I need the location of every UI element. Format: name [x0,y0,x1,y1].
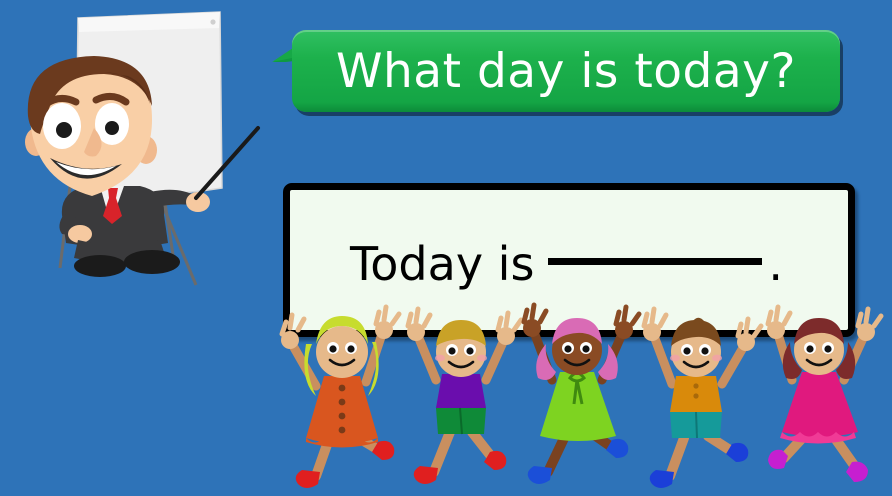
child-girl-green [512,300,642,496]
slide-canvas: What day is today? Today is . [0,0,892,496]
child-boy-orange [634,300,764,496]
shoes [414,451,507,484]
answer-prefix: Today is [350,237,534,291]
legs [670,436,736,476]
shoes [768,450,868,482]
shorts-split [696,412,697,438]
head [783,318,855,379]
shoes [528,439,629,484]
shoes [650,443,749,488]
teacher-character [0,0,270,300]
head [670,318,722,377]
child-girl-orange [278,300,408,496]
children-row [0,300,892,496]
legs [434,432,494,472]
shirt [436,374,486,408]
shoes [296,441,395,488]
head [435,320,487,377]
child-boy-purple [400,300,524,496]
answer-blank[interactable] [548,258,762,265]
head [536,318,618,380]
answer-sentence: Today is . [350,224,850,304]
speech-bubble: What day is today? [292,30,840,112]
child-girl-pink [752,300,886,496]
speech-bubble-text: What day is today? [292,30,840,112]
